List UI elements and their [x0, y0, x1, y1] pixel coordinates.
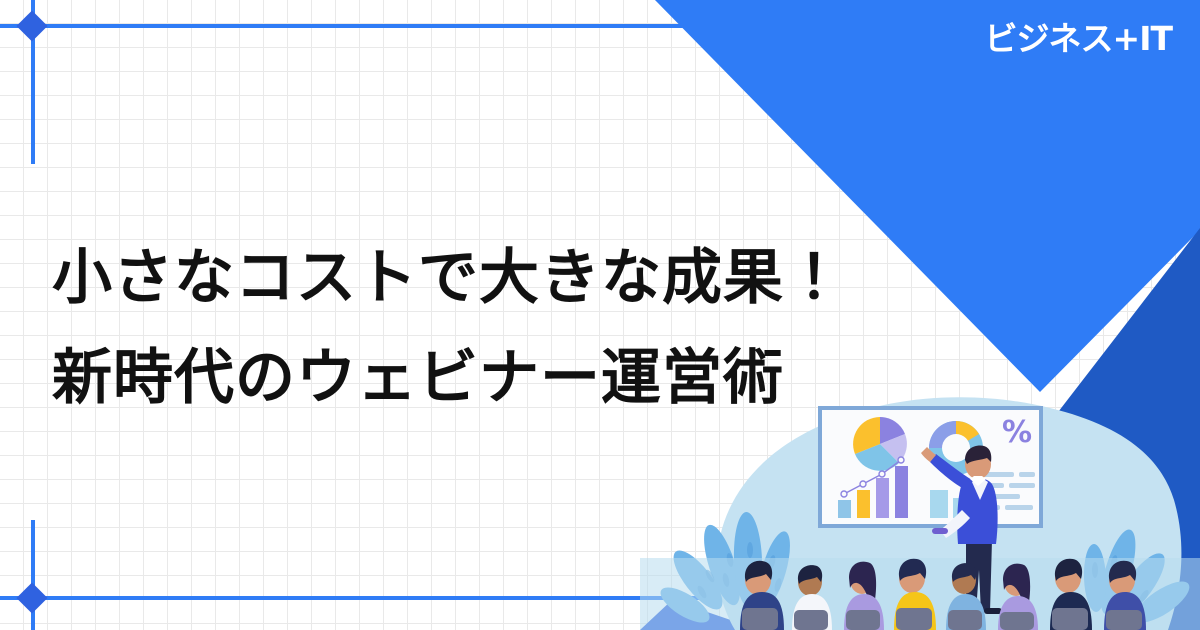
brand-logo-text: ビジネス+IT — [985, 22, 1172, 55]
percent-symbol: % — [1002, 415, 1032, 450]
brand-logo[interactable]: ビジネス+IT — [985, 22, 1172, 55]
crosshair-top-left — [0, 0, 720, 180]
page-title: 小さなコストで大きな成果！ 新時代のウェビナー運営術 — [52, 228, 912, 428]
title-line-2: 新時代のウェビナー運営術 — [52, 328, 912, 428]
crosshair-diamond-marker — [16, 10, 47, 41]
crosshair-horizontal-line — [0, 596, 720, 600]
crosshair-bottom-left — [0, 520, 720, 630]
crosshair-diamond-marker — [16, 582, 47, 613]
title-line-1: 小さなコストで大きな成果！ — [52, 228, 912, 328]
banner-root: ビジネス+IT 小さなコストで大きな成果！ 新時代のウェビナー運営術 — [0, 0, 1200, 630]
crosshair-horizontal-line — [0, 24, 720, 28]
